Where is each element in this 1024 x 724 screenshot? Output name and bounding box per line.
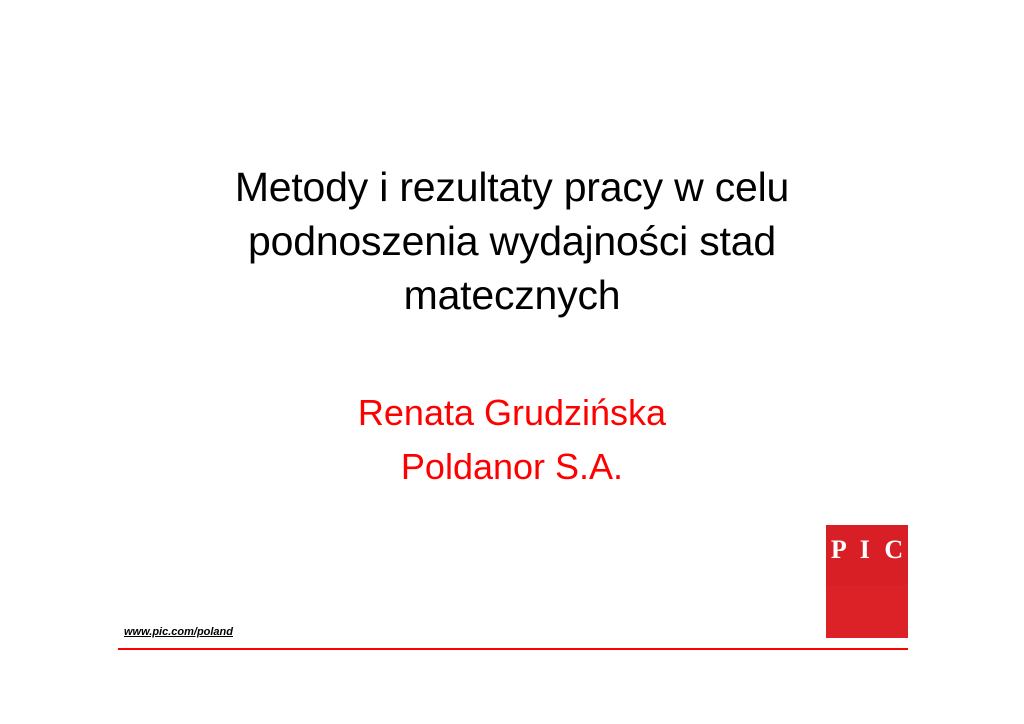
title-line-1: Metody i rezultaty pracy w celu: [180, 160, 844, 214]
presentation-slide: Metody i rezultaty pracy w celu podnosze…: [0, 0, 1024, 724]
title-line-2: podnoszenia wydajności stad: [180, 214, 844, 268]
slide-subtitle-author: Renata Grudzińska Poldanor S.A.: [180, 386, 844, 494]
slide-title: Metody i rezultaty pracy w celu podnosze…: [180, 160, 844, 322]
pic-logo: P I C: [826, 525, 908, 638]
pic-logo-text: P I C: [826, 535, 908, 565]
author-name: Renata Grudzińska: [180, 386, 844, 440]
footer-divider: [118, 648, 908, 650]
footer-website-link[interactable]: www.pic.com/poland: [124, 626, 233, 638]
author-organization: Poldanor S.A.: [180, 440, 844, 494]
title-line-3: matecznych: [180, 268, 844, 322]
